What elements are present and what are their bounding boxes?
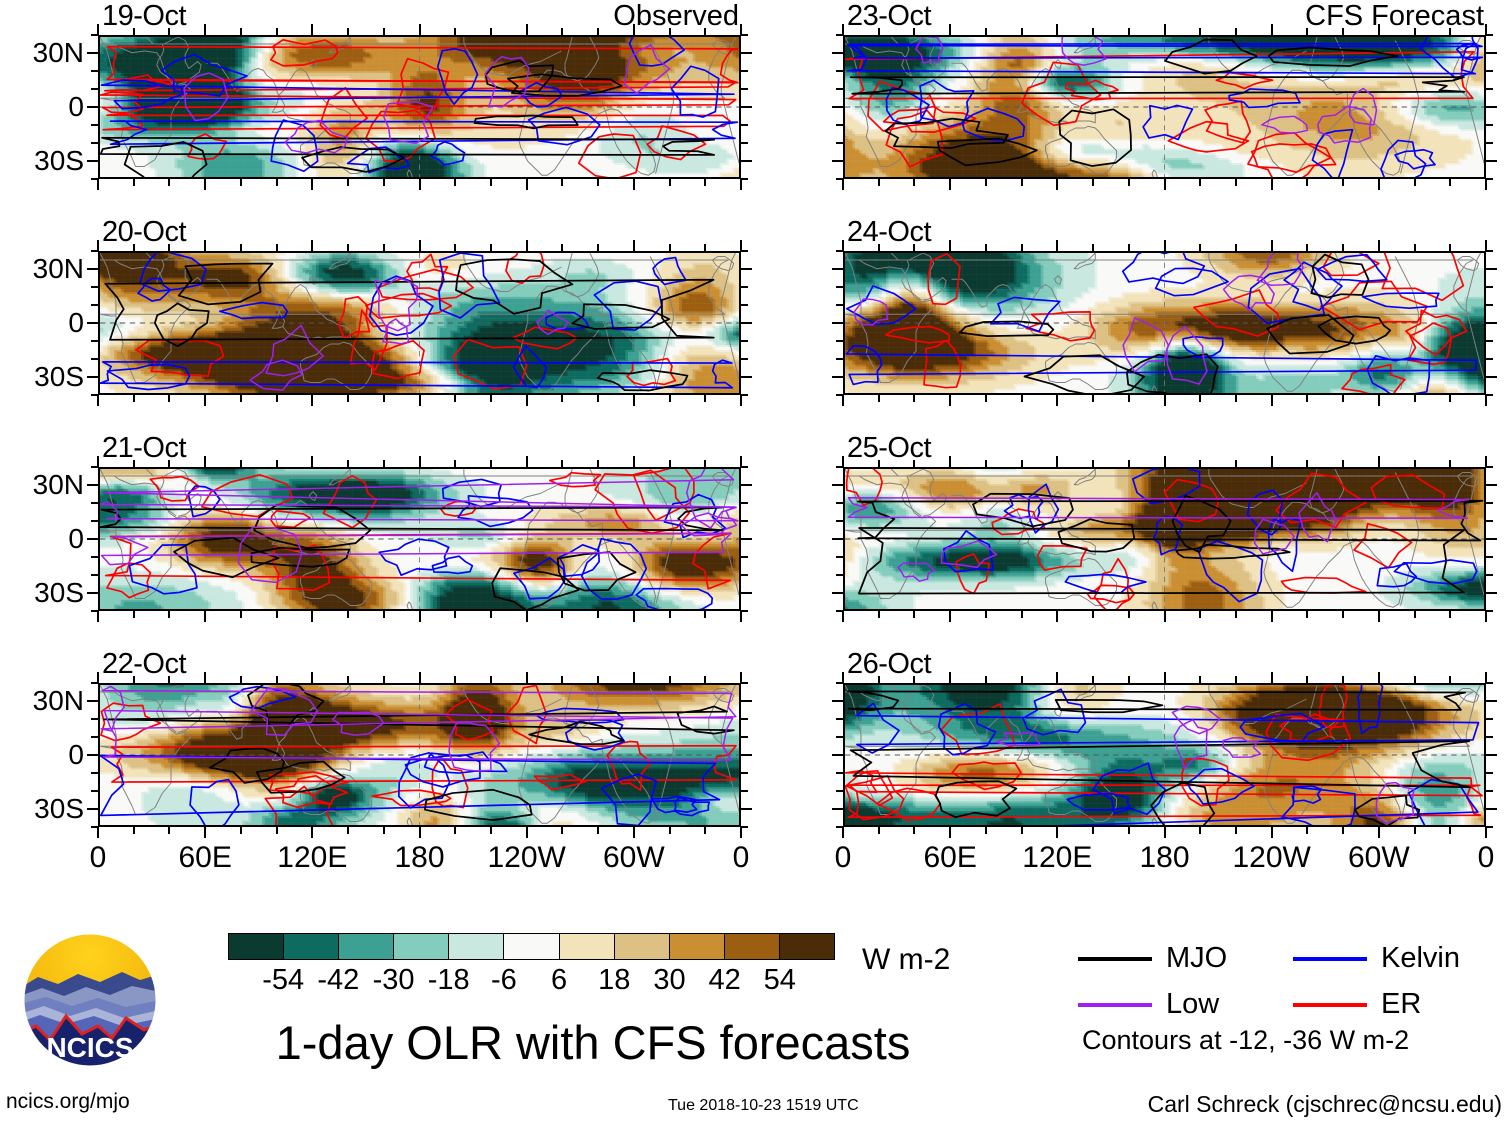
x-tick-top bbox=[1021, 460, 1023, 467]
x-tick-top bbox=[1199, 28, 1201, 35]
x-tick-top bbox=[949, 672, 951, 683]
colorbar-band-7 bbox=[615, 934, 670, 959]
x-tick bbox=[1449, 395, 1451, 402]
x-tick-top bbox=[949, 24, 951, 35]
x-tick-top bbox=[419, 672, 421, 683]
colorbar-tick-4: -6 bbox=[491, 966, 517, 995]
x-tick-top bbox=[1199, 460, 1201, 467]
y-axis-label: 30N bbox=[33, 255, 84, 283]
x-tick-top bbox=[1021, 244, 1023, 251]
x-tick-top bbox=[276, 460, 278, 467]
x-tick bbox=[1128, 395, 1130, 402]
colorbar-band-6 bbox=[560, 934, 615, 959]
x-tick-top bbox=[276, 28, 278, 35]
x-tick-top bbox=[1306, 244, 1308, 251]
x-tick bbox=[949, 395, 951, 406]
y-tick-right bbox=[741, 160, 752, 162]
x-tick bbox=[1164, 179, 1166, 190]
x-tick-top bbox=[383, 676, 385, 683]
x-axis-label: 120W bbox=[487, 843, 565, 873]
x-tick-top bbox=[1235, 676, 1237, 683]
x-tick-top bbox=[704, 676, 706, 683]
colorbar-tick-2: -30 bbox=[373, 966, 415, 995]
y-tick bbox=[832, 106, 843, 108]
x-tick-top bbox=[311, 456, 313, 467]
x-tick bbox=[704, 611, 706, 618]
x-tick bbox=[704, 827, 706, 834]
x-tick-top bbox=[1056, 672, 1058, 683]
x-tick bbox=[168, 611, 170, 618]
legend-line-kelvin-icon bbox=[1293, 957, 1367, 961]
x-tick bbox=[1378, 179, 1380, 190]
x-tick-top bbox=[1092, 460, 1094, 467]
x-tick-top bbox=[878, 676, 880, 683]
x-tick-top bbox=[1056, 240, 1058, 251]
x-tick-top bbox=[1164, 672, 1166, 683]
x-tick-top bbox=[1449, 676, 1451, 683]
x-tick bbox=[1271, 179, 1273, 190]
y-tick-right bbox=[741, 268, 752, 270]
y-tick bbox=[836, 286, 843, 288]
y-tick-right bbox=[1486, 142, 1493, 144]
y-tick-right bbox=[1486, 34, 1493, 36]
x-tick bbox=[490, 827, 492, 834]
x-tick bbox=[949, 179, 951, 190]
x-tick-top bbox=[1271, 456, 1273, 467]
x-tick bbox=[1164, 395, 1166, 406]
colorbar-band-2 bbox=[339, 934, 394, 959]
y-tick bbox=[91, 772, 98, 774]
y-tick-right bbox=[741, 682, 748, 684]
y-tick-right bbox=[741, 34, 748, 36]
y-tick bbox=[836, 394, 843, 396]
x-tick-top bbox=[704, 244, 706, 251]
y-tick bbox=[836, 358, 843, 360]
x-tick-top bbox=[1092, 28, 1094, 35]
y-axis-label: 0 bbox=[68, 741, 84, 769]
x-tick bbox=[878, 395, 880, 402]
x-tick-top bbox=[490, 244, 492, 251]
x-tick bbox=[1056, 827, 1058, 838]
x-tick bbox=[1056, 179, 1058, 190]
x-tick bbox=[1449, 179, 1451, 186]
y-tick-right bbox=[741, 754, 752, 756]
x-tick bbox=[276, 827, 278, 834]
x-tick bbox=[913, 827, 915, 834]
x-tick bbox=[597, 827, 599, 834]
map-panel-24-oct: 24-Oct bbox=[843, 251, 1486, 395]
x-tick-top bbox=[669, 460, 671, 467]
x-axis-label: 120E bbox=[1022, 843, 1092, 873]
x-tick bbox=[419, 827, 421, 838]
colorbar-tick-7: 30 bbox=[653, 966, 685, 995]
y-tick-right bbox=[741, 826, 748, 828]
x-tick-top bbox=[133, 460, 135, 467]
y-tick bbox=[832, 52, 843, 54]
y-tick bbox=[836, 142, 843, 144]
x-tick bbox=[347, 179, 349, 186]
x-tick bbox=[985, 179, 987, 186]
legend-label: ER bbox=[1381, 990, 1421, 1019]
x-tick bbox=[419, 611, 421, 622]
x-tick-top bbox=[1199, 244, 1201, 251]
x-tick bbox=[490, 611, 492, 618]
x-tick bbox=[878, 179, 880, 186]
y-tick bbox=[91, 340, 98, 342]
y-tick-right bbox=[1486, 556, 1493, 558]
x-tick-top bbox=[597, 460, 599, 467]
y-tick-right bbox=[1486, 538, 1497, 540]
y-tick bbox=[87, 106, 98, 108]
y-tick-right bbox=[1486, 826, 1493, 828]
x-tick bbox=[1128, 179, 1130, 186]
x-tick bbox=[97, 179, 99, 190]
x-tick-top bbox=[347, 676, 349, 683]
x-tick bbox=[97, 611, 99, 622]
x-tick-top bbox=[1378, 672, 1380, 683]
y-axis-label: 0 bbox=[68, 93, 84, 121]
y-axis-label: 30N bbox=[33, 687, 84, 715]
x-tick bbox=[913, 611, 915, 618]
y-tick-right bbox=[1486, 250, 1493, 252]
x-tick bbox=[526, 179, 528, 190]
x-tick-top bbox=[561, 460, 563, 467]
x-tick-top bbox=[1414, 676, 1416, 683]
x-tick-top bbox=[1306, 460, 1308, 467]
x-tick bbox=[842, 395, 844, 406]
x-tick-top bbox=[1414, 244, 1416, 251]
x-tick bbox=[347, 395, 349, 402]
y-tick-right bbox=[1486, 574, 1493, 576]
x-tick bbox=[1021, 827, 1023, 834]
panel-grid: 30N030S19-OctObserved23-OctCFS Forecast3… bbox=[0, 0, 1510, 900]
map-canvas bbox=[843, 35, 1486, 179]
y-tick bbox=[87, 376, 98, 378]
y-tick bbox=[87, 160, 98, 162]
y-tick-right bbox=[741, 304, 748, 306]
x-axis-label: 60E bbox=[923, 843, 976, 873]
colorbar-tick-6: 18 bbox=[598, 966, 630, 995]
x-tick bbox=[1092, 611, 1094, 618]
y-tick bbox=[91, 520, 98, 522]
x-tick bbox=[740, 179, 742, 190]
y-tick bbox=[91, 34, 98, 36]
colorbar-tick-0: -54 bbox=[262, 966, 304, 995]
x-tick-top bbox=[1128, 676, 1130, 683]
x-tick-top bbox=[1342, 676, 1344, 683]
x-tick bbox=[740, 395, 742, 406]
legend-item-kelvin: Kelvin bbox=[1293, 944, 1460, 973]
x-tick bbox=[1306, 827, 1308, 834]
x-tick bbox=[1449, 611, 1451, 618]
legend-line-mjo-icon bbox=[1078, 957, 1152, 961]
y-tick bbox=[91, 736, 98, 738]
colorbar-band-5 bbox=[504, 934, 559, 959]
legend-label: Kelvin bbox=[1381, 944, 1460, 973]
y-tick bbox=[91, 178, 98, 180]
x-tick-top bbox=[1342, 28, 1344, 35]
y-tick-right bbox=[741, 520, 748, 522]
map-panel-20-oct: 20-Oct bbox=[98, 251, 741, 395]
y-tick bbox=[91, 610, 98, 612]
y-tick-right bbox=[741, 700, 752, 702]
x-tick-top bbox=[1306, 676, 1308, 683]
x-tick bbox=[985, 611, 987, 618]
y-tick bbox=[836, 340, 843, 342]
map-canvas bbox=[98, 467, 741, 611]
map-canvas bbox=[98, 251, 741, 395]
legend-label: Low bbox=[1166, 990, 1219, 1019]
legend-item-mjo: MJO bbox=[1078, 944, 1227, 973]
x-tick bbox=[490, 395, 492, 402]
x-tick bbox=[204, 395, 206, 406]
x-tick bbox=[311, 611, 313, 622]
x-tick bbox=[1342, 827, 1344, 834]
y-tick-right bbox=[741, 502, 748, 504]
wave-legend: MJOKelvinLowER bbox=[1078, 944, 1498, 1024]
x-tick bbox=[878, 827, 880, 834]
y-tick bbox=[832, 700, 843, 702]
x-tick bbox=[1271, 827, 1273, 838]
x-tick bbox=[526, 827, 528, 838]
y-tick-right bbox=[741, 610, 748, 612]
x-axis-label: 0 bbox=[90, 843, 107, 873]
y-tick bbox=[836, 250, 843, 252]
map-panel-25-oct: 25-Oct bbox=[843, 467, 1486, 611]
x-tick bbox=[985, 827, 987, 834]
colorbar-band-8 bbox=[670, 934, 725, 959]
y-tick-right bbox=[1486, 268, 1497, 270]
y-tick bbox=[91, 250, 98, 252]
y-tick-right bbox=[1486, 52, 1497, 54]
x-tick bbox=[204, 179, 206, 190]
x-tick-top bbox=[913, 28, 915, 35]
x-tick bbox=[276, 179, 278, 186]
x-tick bbox=[240, 827, 242, 834]
colorbar-tick-1: -42 bbox=[317, 966, 359, 995]
x-tick-top bbox=[276, 244, 278, 251]
x-tick bbox=[1199, 395, 1201, 402]
x-tick-top bbox=[1378, 240, 1380, 251]
footer-timestamp: Tue 2018-10-23 1519 UTC bbox=[668, 1098, 859, 1114]
x-tick-top bbox=[419, 240, 421, 251]
y-tick-right bbox=[741, 466, 748, 468]
x-tick-top bbox=[311, 672, 313, 683]
y-tick-right bbox=[1486, 754, 1497, 756]
x-tick bbox=[913, 179, 915, 186]
y-tick bbox=[91, 682, 98, 684]
x-tick bbox=[1414, 179, 1416, 186]
x-tick bbox=[704, 395, 706, 402]
x-tick-top bbox=[276, 676, 278, 683]
x-tick bbox=[1342, 611, 1344, 618]
y-tick bbox=[91, 304, 98, 306]
y-axis-label: 0 bbox=[68, 525, 84, 553]
y-tick-right bbox=[741, 790, 748, 792]
x-tick-top bbox=[704, 28, 706, 35]
y-tick bbox=[832, 160, 843, 162]
colorbar-tick-5: 6 bbox=[551, 966, 567, 995]
x-tick bbox=[1199, 827, 1201, 834]
y-tick bbox=[87, 808, 98, 810]
y-tick bbox=[91, 286, 98, 288]
y-tick-right bbox=[1486, 592, 1497, 594]
y-tick bbox=[91, 70, 98, 72]
colorbar-band-4 bbox=[449, 934, 504, 959]
x-tick-top bbox=[597, 28, 599, 35]
y-tick bbox=[836, 736, 843, 738]
x-tick-top bbox=[1092, 244, 1094, 251]
x-tick-top bbox=[133, 28, 135, 35]
x-tick-top bbox=[133, 676, 135, 683]
y-tick bbox=[87, 322, 98, 324]
y-tick-right bbox=[741, 376, 752, 378]
x-tick bbox=[669, 179, 671, 186]
x-tick bbox=[1164, 827, 1166, 838]
map-panel-19-oct: 19-OctObserved bbox=[98, 35, 741, 179]
x-tick bbox=[1056, 395, 1058, 406]
y-tick bbox=[91, 142, 98, 144]
y-tick-right bbox=[741, 340, 748, 342]
x-tick-top bbox=[526, 456, 528, 467]
x-tick bbox=[168, 827, 170, 834]
x-tick-top bbox=[1271, 240, 1273, 251]
map-canvas bbox=[843, 467, 1486, 611]
y-axis-label: 30S bbox=[34, 147, 84, 175]
x-axis-label: 180 bbox=[394, 843, 444, 873]
x-tick bbox=[1092, 827, 1094, 834]
x-tick-top bbox=[633, 240, 635, 251]
x-tick bbox=[1164, 611, 1166, 622]
y-tick-right bbox=[741, 106, 752, 108]
y-tick bbox=[836, 502, 843, 504]
y-tick-right bbox=[1486, 484, 1497, 486]
y-axis-label: 30N bbox=[33, 39, 84, 67]
x-tick-top bbox=[240, 28, 242, 35]
x-tick-top bbox=[490, 676, 492, 683]
x-tick bbox=[1342, 179, 1344, 186]
x-tick bbox=[561, 611, 563, 618]
panel-date-label: 23-Oct bbox=[847, 1, 931, 31]
y-tick-right bbox=[741, 394, 748, 396]
x-axis-label: 0 bbox=[1478, 843, 1495, 873]
y-tick-right bbox=[1486, 178, 1493, 180]
x-tick-top bbox=[1271, 672, 1273, 683]
y-axis-label: 30S bbox=[34, 795, 84, 823]
x-tick bbox=[561, 395, 563, 402]
x-tick bbox=[454, 611, 456, 618]
x-tick-top bbox=[633, 672, 635, 683]
y-tick bbox=[91, 358, 98, 360]
x-tick bbox=[311, 395, 313, 406]
colorbar-units-label: W m-2 bbox=[862, 945, 950, 975]
x-tick bbox=[454, 395, 456, 402]
x-tick-top bbox=[1235, 244, 1237, 251]
x-tick bbox=[1092, 179, 1094, 186]
y-tick-right bbox=[1486, 286, 1493, 288]
contour-level-note: Contours at -12, -36 W m-2 bbox=[1082, 1027, 1409, 1054]
x-tick bbox=[419, 395, 421, 406]
x-tick-top bbox=[383, 460, 385, 467]
y-tick bbox=[832, 268, 843, 270]
x-tick bbox=[704, 179, 706, 186]
x-tick-top bbox=[1235, 28, 1237, 35]
colorbar-band-10 bbox=[780, 934, 834, 959]
y-tick bbox=[91, 88, 98, 90]
y-tick bbox=[836, 70, 843, 72]
x-tick-top bbox=[1128, 28, 1130, 35]
x-tick bbox=[490, 179, 492, 186]
y-tick-right bbox=[741, 484, 752, 486]
x-tick-top bbox=[1449, 28, 1451, 35]
x-tick-top bbox=[1271, 24, 1273, 35]
x-tick bbox=[878, 611, 880, 618]
y-tick bbox=[91, 556, 98, 558]
x-tick bbox=[1378, 395, 1380, 406]
x-axis-label: 60W bbox=[1348, 843, 1410, 873]
y-tick bbox=[836, 34, 843, 36]
x-tick-top bbox=[240, 460, 242, 467]
x-tick-top bbox=[561, 244, 563, 251]
y-tick bbox=[836, 124, 843, 126]
x-tick-top bbox=[383, 244, 385, 251]
x-tick bbox=[276, 395, 278, 402]
figure-title: 1-day OLR with CFS forecasts bbox=[243, 1018, 943, 1068]
y-tick-right bbox=[741, 142, 748, 144]
x-tick bbox=[740, 827, 742, 838]
y-tick bbox=[87, 700, 98, 702]
panel-date-label: 24-Oct bbox=[847, 217, 931, 247]
x-tick bbox=[633, 179, 635, 190]
x-tick-top bbox=[1342, 244, 1344, 251]
x-tick bbox=[526, 611, 528, 622]
x-tick bbox=[1306, 611, 1308, 618]
x-tick-top bbox=[913, 244, 915, 251]
x-tick-top bbox=[311, 240, 313, 251]
x-tick-top bbox=[704, 460, 706, 467]
x-tick-top bbox=[633, 456, 635, 467]
x-tick-top bbox=[454, 676, 456, 683]
x-tick bbox=[740, 611, 742, 622]
panel-date-label: 26-Oct bbox=[847, 649, 931, 679]
panel-date-label: 25-Oct bbox=[847, 433, 931, 463]
x-tick bbox=[97, 395, 99, 406]
y-axis-label: 30N bbox=[33, 471, 84, 499]
y-tick bbox=[91, 790, 98, 792]
y-tick bbox=[832, 592, 843, 594]
x-tick bbox=[383, 827, 385, 834]
y-tick-right bbox=[1486, 106, 1497, 108]
x-tick bbox=[133, 611, 135, 618]
y-tick bbox=[87, 52, 98, 54]
x-tick-top bbox=[419, 24, 421, 35]
x-tick bbox=[1449, 827, 1451, 834]
y-tick bbox=[91, 394, 98, 396]
y-tick-right bbox=[1486, 124, 1493, 126]
x-tick-top bbox=[490, 28, 492, 35]
colorbar-tick-9: 54 bbox=[764, 966, 796, 995]
y-tick bbox=[832, 538, 843, 540]
x-tick-top bbox=[669, 244, 671, 251]
y-tick-right bbox=[1486, 718, 1493, 720]
x-tick-top bbox=[669, 676, 671, 683]
x-tick-top bbox=[347, 28, 349, 35]
x-tick-top bbox=[1235, 460, 1237, 467]
x-tick bbox=[419, 179, 421, 190]
y-tick-right bbox=[1486, 304, 1493, 306]
y-tick bbox=[832, 808, 843, 810]
y-tick bbox=[836, 772, 843, 774]
